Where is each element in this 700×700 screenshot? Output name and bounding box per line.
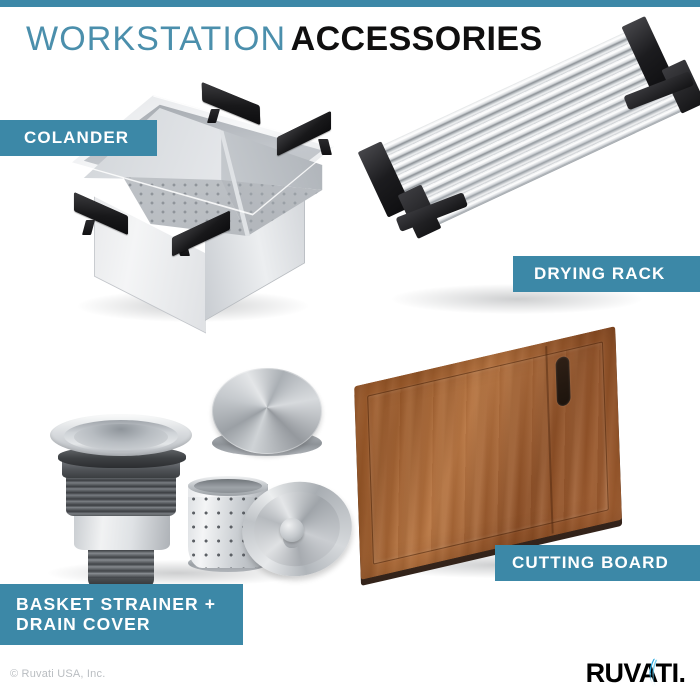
- label-basket-strainer-drain-cover: BASKET STRAINER + DRAIN COVER: [0, 584, 243, 645]
- label-cutting-board-text: CUTTING BOARD: [512, 553, 669, 572]
- drain-cover-disc: [212, 368, 322, 454]
- cutting-board-handle-slot: [555, 355, 570, 407]
- ruvati-logo-period: .: [678, 660, 686, 687]
- drain-body-bowl-opening: [74, 424, 168, 450]
- label-colander: COLANDER: [0, 120, 157, 156]
- page-title-bold: ACCESSORIES: [291, 20, 543, 58]
- label-colander-text: COLANDER: [24, 128, 129, 147]
- page-title-light: WORKSTATION: [26, 20, 286, 58]
- drain-body-threaded-neck: [88, 546, 154, 582]
- label-drying-rack-text: DRYING RACK: [534, 264, 665, 283]
- label-cutting-board: CUTTING BOARD: [495, 545, 700, 581]
- top-accent-bar: [0, 0, 700, 7]
- ruvati-logo: RUVATI .: [586, 660, 686, 687]
- ruvati-logo-wordmark: RUVATI: [586, 660, 679, 687]
- basket-strainer-product-image: [36, 358, 346, 586]
- cutting-board-illustration: [354, 326, 622, 580]
- drain-body-midsection: [74, 510, 170, 550]
- footer-copyright: © Ruvati USA, Inc.: [10, 668, 105, 680]
- label-basket-strainer-line2: DRAIN COVER: [16, 615, 216, 635]
- label-basket-strainer-line1: BASKET STRAINER +: [16, 595, 216, 615]
- label-drying-rack: DRYING RACK: [513, 256, 700, 292]
- strainer-lid-knob: [280, 518, 304, 542]
- page-title: WORKSTATION ACCESSORIES: [26, 20, 543, 59]
- strainer-basket-rim-inner: [194, 479, 262, 493]
